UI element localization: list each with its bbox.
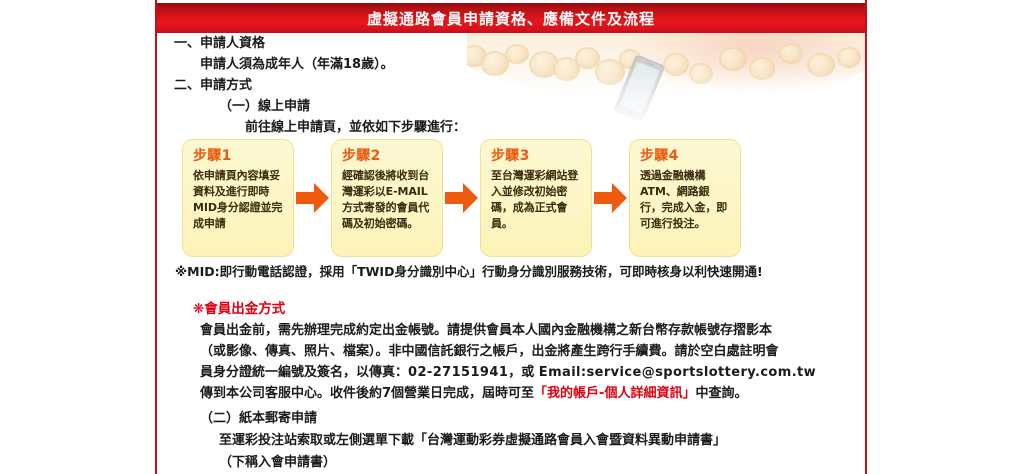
step-2-label: 步驟2 [342,148,433,165]
withdrawal-line-2: （或影像、傳真、照片、檔案）。非中國信託銀行之帳戶，出金將產生跨行手續費。請於空… [157,341,865,362]
content-panel: 虛擬通路會員申請資格、應備文件及流程 [155,0,867,474]
arrow-right-icon-3 [592,178,629,218]
paper-mail-section: （二）紙本郵寄申請 至運彩投注站索取或左側選單下載「台灣運動彩券虛擬通路會員入會… [157,408,865,474]
step-3-description: 至台灣運彩網站登入並修改初始密碼，成為正式會員。 [491,168,582,232]
application-steps-flow: 步驟1 依申請頁內容填妥資料及進行即時MID身分認證並完成申請 步驟2 經確認後… [182,138,742,258]
support-email[interactable]: Email:service@sportslottery.com.tw [539,365,816,380]
section-2-sub-1-body: 前往線上申請頁，並依如下步驟進行： [157,117,865,138]
withdrawal-line-4-prefix: 傳到本公司客服中心。收件後約7個營業日完成，屆時可至 [200,386,534,401]
step-box-3: 步驟3 至台灣運彩網站登入並修改初始密碼，成為正式會員。 [480,139,592,257]
step-box-1: 步驟1 依申請頁內容填妥資料及進行即時MID身分認證並完成申請 [182,139,294,257]
step-3-label: 步驟3 [491,148,582,165]
withdrawal-line-3-conjunction: ，或 [508,365,539,380]
withdrawal-line-3: 員身分證統一編號及簽名，以傳真：02-27151941，或 Email:serv… [157,362,865,383]
arrow-right-icon-2 [443,178,480,218]
withdrawal-line-3-prefix: 員身分證統一編號及簽名，以傳真： [200,365,408,380]
section-2-sub-1-heading: （一）線上申請 [157,96,865,117]
page-title: 虛擬通路會員申請資格、應備文件及流程 [367,8,655,29]
my-account-link[interactable]: 「我的帳戶-個人詳細資訊」 [534,386,695,401]
step-4-description: 透過金融機構ATM、網路銀行，完成入金，即可進行投注。 [640,168,731,232]
page-title-bar: 虛擬通路會員申請資格、應備文件及流程 [157,3,865,33]
withdrawal-section: ❋會員出金方式 會員出金前，需先辦理完成約定出金帳號。請提供會員本人國內金融機構… [157,299,865,404]
withdrawal-line-1: 會員出金前，需先辦理完成約定出金帳號。請提供會員本人國內金融機構之新台幣存款帳號… [157,320,865,341]
step-2-description: 經確認後將收到台灣運彩以E-MAIL方式寄發的會員代碼及初始密碼。 [342,168,433,232]
section-2-sub-2-line-1: 至運彩投注站索取或左側選單下載「台灣運動彩券虛擬通路會員入會暨資料異動申請書」 [157,430,865,452]
withdrawal-heading: ❋會員出金方式 [157,299,865,320]
fax-number: 02-27151941 [408,365,508,380]
withdrawal-line-4: 傳到本公司客服中心。收件後約7個營業日完成，屆時可至「我的帳戶-個人詳細資訊」中… [157,383,865,404]
mid-footnote: ※MID:即行動電話認證，採用「TWID身分識別中心」行動身分識別服務技術，可即… [175,261,763,280]
section-1-heading: 一、申請人資格 [157,33,865,54]
step-4-label: 步驟4 [640,148,731,165]
arrow-right-icon-1 [294,178,331,218]
section-1-body: 申請人須為成年人（年滿18歲）。 [157,54,865,75]
section-2-sub-2-heading: （二）紙本郵寄申請 [157,408,865,430]
step-1-label: 步驟1 [193,148,284,165]
section-2-sub-2-line-2: （下稱入會申請書） [157,452,865,474]
step-box-4: 步驟4 透過金融機構ATM、網路銀行，完成入金，即可進行投注。 [629,139,741,257]
page-root: 虛擬通路會員申請資格、應備文件及流程 [0,0,1024,474]
step-box-2: 步驟2 經確認後將收到台灣運彩以E-MAIL方式寄發的會員代碼及初始密碼。 [331,139,443,257]
section-2-heading: 二、申請方式 [157,75,865,96]
intro-text-block: 一、申請人資格 申請人須為成年人（年滿18歲）。 二、申請方式 （一）線上申請 … [157,33,865,138]
step-1-description: 依申請頁內容填妥資料及進行即時MID身分認證並完成申請 [193,168,284,232]
withdrawal-line-4-suffix: 中查詢。 [695,386,747,401]
